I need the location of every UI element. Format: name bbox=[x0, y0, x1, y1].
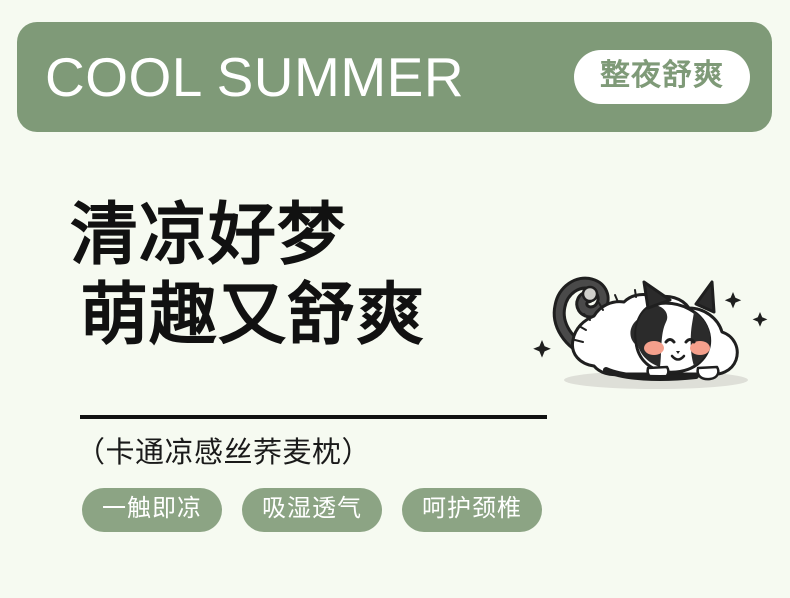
headline-line-1: 清凉好梦 bbox=[70, 195, 550, 275]
sparkle-icon bbox=[753, 312, 768, 327]
cat-ear-right bbox=[696, 282, 714, 312]
headline-block: 清凉好梦 萌趣又舒爽 bbox=[70, 195, 550, 355]
banner-title: COOL SUMMER bbox=[45, 48, 464, 106]
feature-pill-label: 呵护颈椎 bbox=[422, 494, 522, 524]
banner-badge-label: 整夜舒爽 bbox=[600, 59, 724, 93]
sparkle-icon bbox=[725, 292, 741, 308]
feature-pill-label: 吸湿透气 bbox=[262, 494, 362, 524]
divider-rule bbox=[80, 415, 547, 419]
feature-pill: 吸湿透气 bbox=[242, 488, 382, 532]
feature-pill: 一触即凉 bbox=[82, 488, 222, 532]
cat-paw-right bbox=[698, 367, 719, 379]
feature-pill-list: 一触即凉 吸湿透气 呵护颈椎 bbox=[82, 488, 542, 532]
feature-pill-label: 一触即凉 bbox=[102, 494, 202, 524]
cat-cheek-left bbox=[644, 341, 664, 355]
headline-line-2: 萌趣又舒爽 bbox=[80, 275, 550, 355]
cat-illustration bbox=[528, 268, 778, 398]
sparkle-icon bbox=[533, 340, 551, 358]
promo-banner-page: COOL SUMMER 整夜舒爽 清凉好梦 萌趣又舒爽 （卡通凉感丝荞麦枕） 一… bbox=[0, 0, 790, 598]
banner-badge: 整夜舒爽 bbox=[574, 50, 750, 104]
product-subtitle: （卡通凉感丝荞麦枕） bbox=[76, 432, 371, 474]
cat-tail-tip bbox=[583, 287, 597, 301]
feature-pill: 呵护颈椎 bbox=[402, 488, 542, 532]
cool-summer-banner: COOL SUMMER 整夜舒爽 bbox=[17, 22, 772, 132]
